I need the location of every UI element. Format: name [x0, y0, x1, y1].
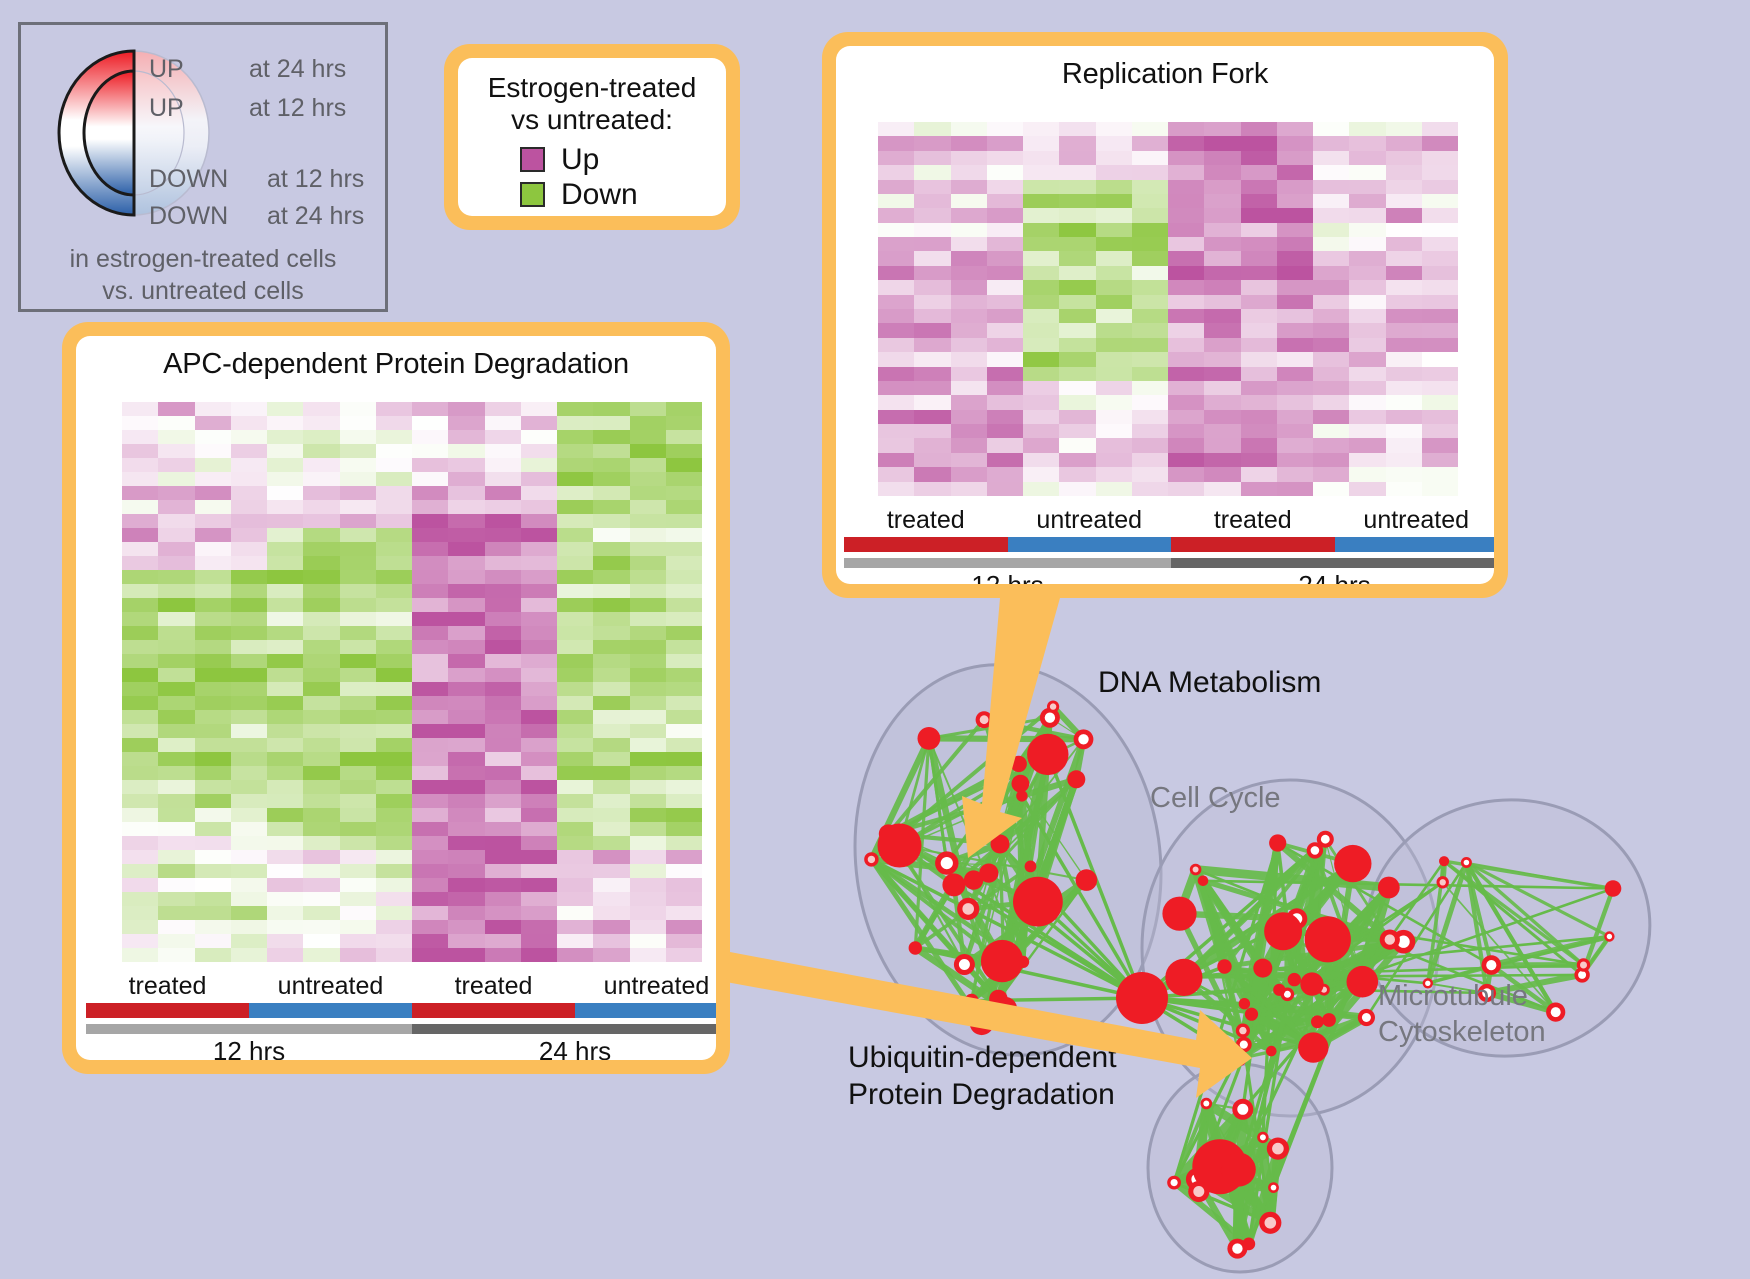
heatmap-cell	[231, 458, 267, 472]
network-node[interactable]	[1253, 959, 1272, 978]
heatmap-cell	[666, 780, 702, 794]
heatmap-cell	[267, 822, 303, 836]
heatmap-cell	[951, 352, 987, 366]
heatmap-cell	[1386, 395, 1422, 409]
network-node[interactable]	[1245, 1008, 1258, 1021]
heatmap-cell	[448, 738, 484, 752]
heatmap-cell	[630, 934, 666, 948]
heatmap-cell	[412, 920, 448, 934]
network-node[interactable]	[1011, 756, 1027, 772]
heatmap-cell	[340, 458, 376, 472]
network-node[interactable]	[1266, 1046, 1277, 1057]
heatmap-cell	[1023, 136, 1059, 150]
key-up-12-time: at 12 hrs	[249, 94, 346, 123]
heatmap-cell	[1313, 151, 1349, 165]
network-node[interactable]	[918, 727, 941, 750]
heatmap-cell	[1023, 323, 1059, 337]
heatmap-cell	[630, 500, 666, 514]
heatmap-cell	[1313, 136, 1349, 150]
heatmap-cell	[303, 836, 339, 850]
heatmap-cell	[1313, 438, 1349, 452]
network-node[interactable]	[993, 997, 1017, 1021]
network-node[interactable]	[1269, 834, 1286, 851]
rf-condition-bar	[844, 537, 1494, 552]
heatmap-cell	[231, 780, 267, 794]
key-footer-line2: vs. untreated cells	[21, 275, 385, 307]
heatmap-cell	[1422, 453, 1458, 467]
heatmap-cell	[1241, 223, 1277, 237]
network-node[interactable]	[942, 873, 965, 896]
network-node-core	[1239, 1027, 1246, 1034]
network-node[interactable]	[1165, 959, 1202, 996]
heatmap-cell	[1168, 453, 1204, 467]
heatmap-cell	[1096, 323, 1132, 337]
heatmap-cell	[303, 430, 339, 444]
heatmap-cell	[951, 309, 987, 323]
heatmap-cell	[1096, 180, 1132, 194]
heatmap-cell	[878, 237, 914, 251]
legend-label-up: Up	[561, 143, 599, 177]
heatmap-cell	[1023, 251, 1059, 265]
heatmap-cell	[987, 165, 1023, 179]
heatmap-cell	[1059, 266, 1095, 280]
heatmap-cell	[666, 836, 702, 850]
network-node[interactable]	[965, 994, 979, 1008]
heatmap-cell	[666, 766, 702, 780]
heatmap-cell	[630, 696, 666, 710]
network-node[interactable]	[1076, 869, 1098, 891]
heatmap-cell	[267, 724, 303, 738]
heatmap-cell	[303, 780, 339, 794]
heatmap-cell	[914, 151, 950, 165]
heatmap-cell	[231, 864, 267, 878]
heatmap-cell	[412, 864, 448, 878]
heatmap-cell	[593, 864, 629, 878]
heatmap-cell	[521, 598, 557, 612]
heatmap-cell	[412, 738, 448, 752]
network-node[interactable]	[1217, 959, 1231, 973]
heatmap-cell	[195, 584, 231, 598]
heatmap-cell	[448, 808, 484, 822]
key-down-12-label: DOWN	[149, 165, 228, 194]
network-node[interactable]	[1067, 770, 1085, 788]
heatmap-cell	[1023, 424, 1059, 438]
heatmap-cell	[231, 934, 267, 948]
heatmap-cell	[267, 808, 303, 822]
heatmap-cell	[195, 486, 231, 500]
network-node[interactable]	[1264, 912, 1302, 950]
heatmap-cell	[267, 416, 303, 430]
heatmap-cell	[122, 626, 158, 640]
key-footer: in estrogen-treated cells vs. untreated …	[21, 243, 385, 307]
heatmap-cell	[1241, 237, 1277, 251]
heatmap-cell	[557, 458, 593, 472]
heatmap-cell	[376, 612, 412, 626]
heatmap-cell	[1204, 280, 1240, 294]
heatmap-cell	[340, 808, 376, 822]
heatmap-cell	[158, 458, 194, 472]
heatmap-cell	[878, 266, 914, 280]
heatmap-cell	[340, 612, 376, 626]
heatmap-cell	[376, 794, 412, 808]
heatmap-cell	[630, 654, 666, 668]
network-node[interactable]	[1605, 880, 1622, 897]
heatmap-cell	[158, 850, 194, 864]
heatmap-cell	[1349, 237, 1385, 251]
heatmap-cell	[448, 402, 484, 416]
network-node[interactable]	[979, 864, 998, 883]
network-node[interactable]	[1305, 916, 1351, 962]
heatmap-cell	[951, 122, 987, 136]
heatmap-cell	[303, 878, 339, 892]
heatmap-cell	[557, 878, 593, 892]
apc-cond-untreated-12	[249, 1003, 412, 1018]
heatmap-cell	[376, 402, 412, 416]
heatmap-cell	[1313, 381, 1349, 395]
heatmap-cell	[630, 668, 666, 682]
heatmap-cell	[376, 752, 412, 766]
heatmap-cell	[412, 668, 448, 682]
heatmap-cell	[376, 640, 412, 654]
heatmap-cell	[1277, 482, 1313, 496]
heatmap-cell	[376, 556, 412, 570]
heatmap-cell	[448, 934, 484, 948]
heatmap-cell	[303, 542, 339, 556]
heatmap-cell	[1204, 295, 1240, 309]
heatmap-cell	[122, 948, 158, 962]
heatmap-cell	[1277, 410, 1313, 424]
heatmap-cell	[158, 430, 194, 444]
heatmap-cell	[122, 696, 158, 710]
heatmap-cell	[412, 850, 448, 864]
heatmap-cell	[1132, 223, 1168, 237]
heatmap-cell	[267, 514, 303, 528]
heatmap-cell	[1096, 165, 1132, 179]
heatmap-cell	[1059, 280, 1095, 294]
heatmap-cell	[1313, 395, 1349, 409]
heatmap-cell	[412, 458, 448, 472]
heatmap-cell	[122, 528, 158, 542]
rf-cond-treated-24	[1171, 537, 1335, 552]
heatmap-cell	[1096, 367, 1132, 381]
heatmap-cell	[412, 948, 448, 962]
network-node[interactable]	[1288, 973, 1301, 986]
heatmap-cell	[158, 738, 194, 752]
heatmap-cell	[412, 430, 448, 444]
heatmap-cell	[914, 122, 950, 136]
heatmap-cell	[1132, 165, 1168, 179]
heatmap-cell	[1313, 352, 1349, 366]
network-node[interactable]	[1311, 1015, 1324, 1028]
heatmap-cell	[340, 710, 376, 724]
heatmap-cell	[593, 808, 629, 822]
heatmap-cell	[987, 309, 1023, 323]
heatmap-cell	[666, 906, 702, 920]
heatmap-cell	[630, 682, 666, 696]
heatmap-cell	[557, 794, 593, 808]
network-node[interactable]	[1222, 1153, 1256, 1187]
heatmap-cell	[448, 430, 484, 444]
heatmap-cell	[1386, 165, 1422, 179]
heatmap-cell	[1023, 122, 1059, 136]
heatmap-cell	[1204, 151, 1240, 165]
heatmap-cell	[1349, 424, 1385, 438]
heatmap-cell	[303, 948, 339, 962]
heatmap-cell	[914, 295, 950, 309]
heatmap-cell	[1059, 251, 1095, 265]
network-node[interactable]	[1347, 966, 1379, 998]
heatmap-cell	[1204, 237, 1240, 251]
heatmap-cell	[521, 458, 557, 472]
heatmap-cell	[593, 640, 629, 654]
heatmap-cell	[267, 542, 303, 556]
heatmap-cell	[630, 402, 666, 416]
network-node[interactable]	[1012, 775, 1030, 793]
heatmap-cell	[557, 444, 593, 458]
heatmap-cell	[303, 514, 339, 528]
apc-group-labels: treated untreated treated untreated	[86, 972, 716, 1001]
heatmap-cell	[122, 808, 158, 822]
heatmap-cell	[195, 766, 231, 780]
heatmap-cell	[448, 640, 484, 654]
heatmap-cell	[195, 780, 231, 794]
heatmap-cell	[448, 892, 484, 906]
heatmap-cell	[158, 444, 194, 458]
heatmap-cell	[485, 542, 521, 556]
heatmap-cell	[231, 752, 267, 766]
heatmap-cell	[521, 920, 557, 934]
heatmap-cell	[521, 794, 557, 808]
legend-item-up: Up	[520, 143, 726, 177]
heatmap-cell	[593, 612, 629, 626]
heatmap-cell	[448, 836, 484, 850]
network-node[interactable]	[1198, 876, 1209, 887]
heatmap-cell	[914, 367, 950, 381]
heatmap-cell	[376, 850, 412, 864]
network-node[interactable]	[1242, 1238, 1255, 1251]
heatmap-cell	[1277, 453, 1313, 467]
heatmap-cell	[340, 626, 376, 640]
network-node[interactable]	[1232, 1051, 1247, 1066]
heatmap-cell	[1168, 482, 1204, 496]
heatmap-cell	[1168, 237, 1204, 251]
heatmap-cell	[267, 794, 303, 808]
heatmap-cell	[1277, 165, 1313, 179]
network-node[interactable]	[1016, 790, 1027, 801]
heatmap-cell	[376, 906, 412, 920]
network-node-core	[1265, 1217, 1277, 1229]
apc-time-bar-12	[86, 1024, 412, 1034]
network-node[interactable]	[981, 940, 1023, 982]
heatmap-cell	[1023, 367, 1059, 381]
network-node[interactable]	[909, 941, 922, 954]
heatmap-cell	[267, 486, 303, 500]
heatmap-cell	[231, 402, 267, 416]
network-node[interactable]	[1334, 845, 1371, 882]
heatmap-cell	[593, 836, 629, 850]
heatmap-cell	[557, 948, 593, 962]
heatmap-cell	[267, 654, 303, 668]
heatmap-cell	[1349, 467, 1385, 481]
key-footer-line1: in estrogen-treated cells	[21, 243, 385, 275]
heatmap-cell	[557, 738, 593, 752]
heatmap-cell	[376, 528, 412, 542]
heatmap-cell	[878, 381, 914, 395]
heatmap-cell	[987, 194, 1023, 208]
heatmap-cell	[666, 458, 702, 472]
network-node[interactable]	[878, 824, 922, 868]
heatmap-cell	[1241, 251, 1277, 265]
heatmap-cell	[951, 453, 987, 467]
heatmap-cell	[630, 612, 666, 626]
heatmap-cell	[878, 482, 914, 496]
heatmap-cell	[1023, 381, 1059, 395]
heatmap-cell	[1349, 208, 1385, 222]
heatmap-cell	[376, 696, 412, 710]
network-node[interactable]	[970, 1011, 994, 1035]
heatmap-cell	[521, 906, 557, 920]
network-node[interactable]	[1025, 861, 1037, 873]
heatmap-cell	[412, 710, 448, 724]
heatmap-cell	[1422, 165, 1458, 179]
heatmap-cell	[231, 906, 267, 920]
heatmap-cell	[448, 416, 484, 430]
heatmap-cell	[485, 528, 521, 542]
heatmap-cell	[267, 570, 303, 584]
heatmap-cell	[1349, 151, 1385, 165]
heatmap-cell	[666, 570, 702, 584]
heatmap-cell	[1422, 136, 1458, 150]
heatmap-cell	[630, 892, 666, 906]
heatmap-cell	[1096, 467, 1132, 481]
heatmap-cell	[1349, 223, 1385, 237]
heatmap-cell	[1277, 237, 1313, 251]
heatmap-cell	[914, 424, 950, 438]
heatmap-cell	[340, 920, 376, 934]
heatmap-cell	[593, 654, 629, 668]
heatmap-cell	[1313, 237, 1349, 251]
heatmap-cell	[158, 472, 194, 486]
heatmap-cell	[878, 453, 914, 467]
heatmap-cell	[1313, 295, 1349, 309]
heatmap-cell	[1096, 295, 1132, 309]
network-node[interactable]	[1027, 734, 1068, 775]
heatmap-cell	[195, 934, 231, 948]
network-node[interactable]	[1162, 897, 1196, 931]
heatmap-cell	[485, 612, 521, 626]
heatmap-cell	[231, 584, 267, 598]
heatmap-cell	[340, 682, 376, 696]
heatmap-cell	[1277, 338, 1313, 352]
heatmap-cell	[914, 482, 950, 496]
heatmap-cell	[630, 416, 666, 430]
heatmap-cell	[1313, 323, 1349, 337]
heatmap-cell	[1277, 208, 1313, 222]
network-node-core	[1232, 1243, 1242, 1253]
heatmap-cell	[1241, 352, 1277, 366]
heatmap-cell	[878, 410, 914, 424]
heatmap-cell	[376, 724, 412, 738]
heatmap-cell	[878, 438, 914, 452]
heatmap-cell	[448, 528, 484, 542]
heatmap-cell	[231, 514, 267, 528]
heatmap-cell	[557, 654, 593, 668]
heatmap-cell	[521, 710, 557, 724]
heatmap-cell	[122, 612, 158, 626]
heatmap-cell	[593, 752, 629, 766]
heatmap-cell	[448, 878, 484, 892]
heatmap-cell	[158, 920, 194, 934]
network-node-core	[1203, 1101, 1209, 1107]
heatmap-cell	[1059, 395, 1095, 409]
heatmap-cell	[593, 416, 629, 430]
heatmap-cell	[485, 570, 521, 584]
heatmap-cell	[987, 180, 1023, 194]
network-node[interactable]	[1378, 877, 1400, 899]
network-node[interactable]	[1013, 877, 1063, 927]
heatmap-cell	[521, 584, 557, 598]
network-node[interactable]	[1239, 998, 1250, 1009]
heatmap-cell	[878, 424, 914, 438]
heatmap-cell	[231, 556, 267, 570]
heatmap-cell	[1277, 136, 1313, 150]
heatmap-cell	[521, 402, 557, 416]
network-node[interactable]	[1300, 972, 1323, 995]
heatmap-cell	[303, 584, 339, 598]
heatmap-cell	[1349, 438, 1385, 452]
network-node-core	[1078, 734, 1088, 744]
heatmap-cell	[485, 864, 521, 878]
network-node[interactable]	[1273, 984, 1285, 996]
heatmap-cell	[485, 906, 521, 920]
heatmap-cell	[1132, 295, 1168, 309]
network-node[interactable]	[1116, 972, 1168, 1024]
heatmap-cell	[485, 878, 521, 892]
apc-time-label-24: 24 hrs	[412, 1036, 716, 1060]
heatmap-cell	[158, 640, 194, 654]
heatmap-cell	[1168, 410, 1204, 424]
heatmap-cell	[376, 654, 412, 668]
network-node-core	[1385, 934, 1395, 944]
heatmap-cell	[557, 766, 593, 780]
heatmap-cell	[267, 472, 303, 486]
heatmap-cell	[195, 906, 231, 920]
rf-cond-untreated-24	[1335, 537, 1495, 552]
heatmap-cell	[593, 794, 629, 808]
heatmap-cell	[1277, 323, 1313, 337]
network-node[interactable]	[991, 835, 1010, 854]
heatmap-cell	[485, 948, 521, 962]
heatmap-cell	[340, 696, 376, 710]
heatmap-cell	[340, 542, 376, 556]
heatmap-cell	[1132, 251, 1168, 265]
heatmap-cell	[630, 528, 666, 542]
heatmap-cell	[340, 892, 376, 906]
heatmap-cell	[666, 584, 702, 598]
heatmap-cell	[1386, 295, 1422, 309]
heatmap-cell	[1277, 122, 1313, 136]
heatmap-cell	[303, 556, 339, 570]
heatmap-cell	[158, 500, 194, 514]
network-node[interactable]	[1298, 1032, 1328, 1062]
heatmap-cell	[303, 402, 339, 416]
network-node[interactable]	[1439, 856, 1449, 866]
heatmap-cell	[593, 766, 629, 780]
heatmap-cell	[630, 556, 666, 570]
heatmap-cell	[1023, 194, 1059, 208]
network-node[interactable]	[1322, 1013, 1336, 1027]
heatmap-cell	[666, 486, 702, 500]
